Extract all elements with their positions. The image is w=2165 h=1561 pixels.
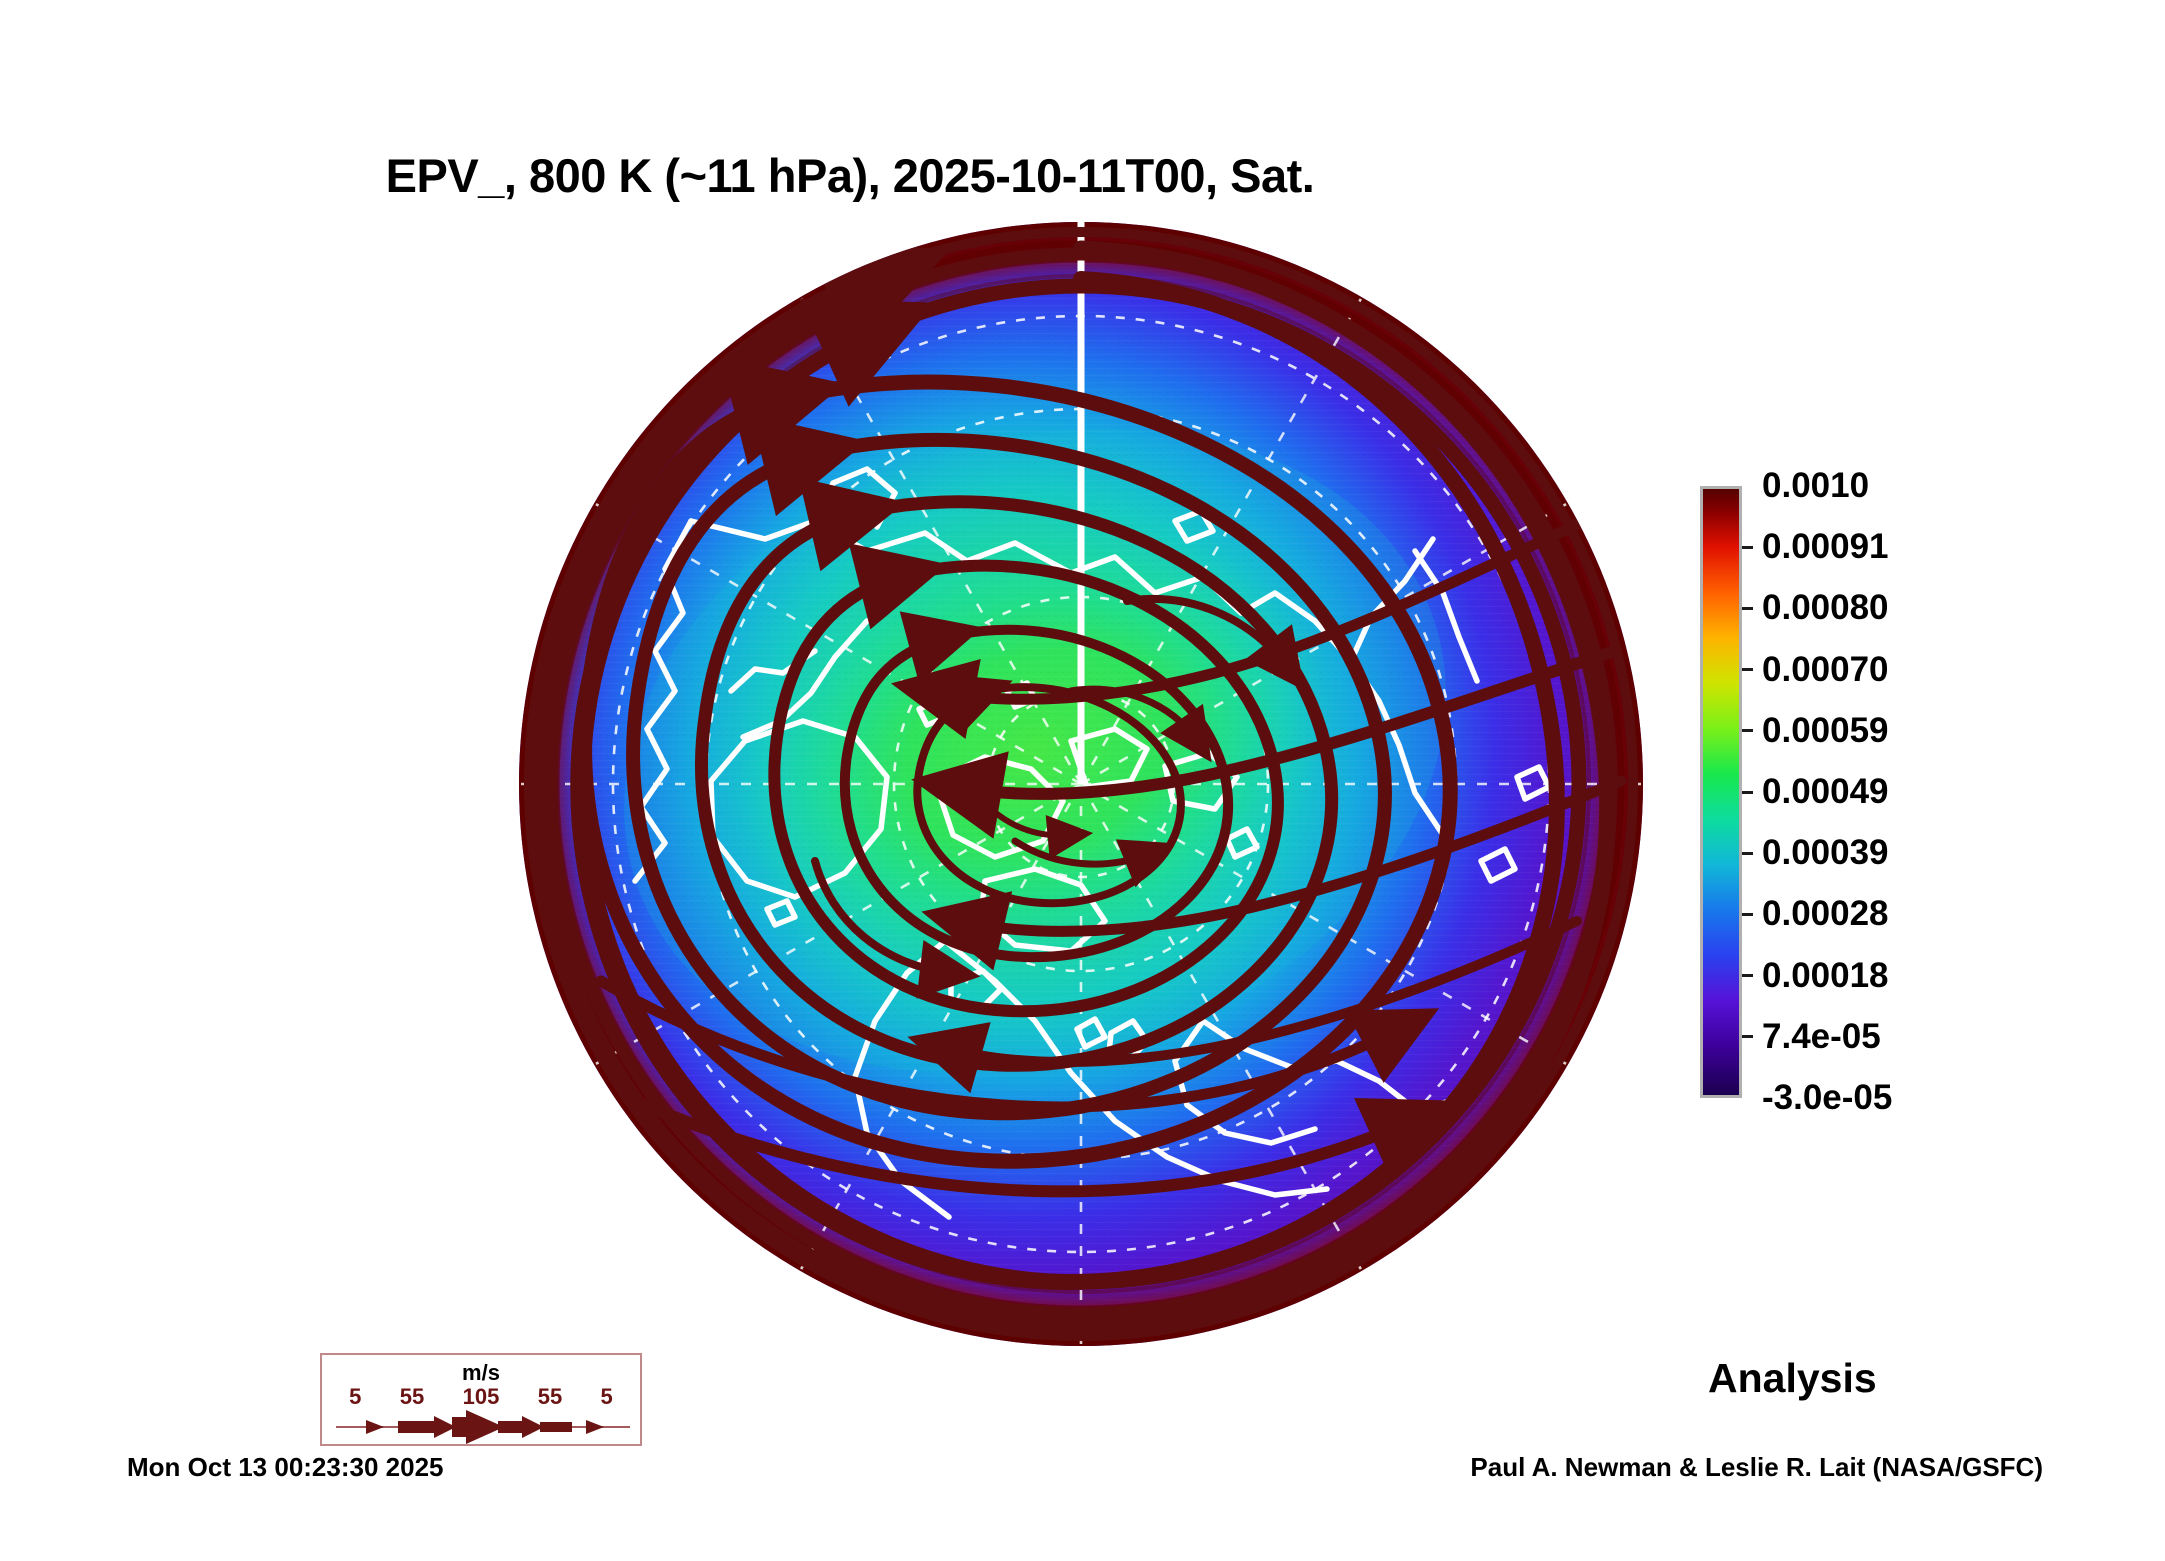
- colorbar-tick-label: 0.00018: [1762, 958, 1889, 993]
- wind-arrow-scale: [322, 1410, 644, 1444]
- colorbar-tick-label: 0.00070: [1762, 652, 1889, 687]
- colorbar-tick: [1742, 668, 1753, 671]
- page-title: EPV_, 800 K (~11 hPa), 2025-10-11T00, Sa…: [0, 148, 1700, 203]
- colorbar-tick: [1742, 974, 1753, 977]
- author-attribution: Paul A. Newman & Leslie R. Lait (NASA/GS…: [1470, 1452, 2043, 1483]
- wind-speed-legend: m/s 555105555: [320, 1353, 642, 1446]
- wind-tick-label: 5: [601, 1384, 613, 1410]
- polar-map-svg: [515, 221, 1647, 1347]
- colorbar-tick-label: 0.00059: [1762, 713, 1889, 748]
- colorbar-tick-label: 0.00028: [1762, 896, 1889, 931]
- colorbar-tick: [1742, 607, 1753, 610]
- colorbar-tick: [1742, 852, 1753, 855]
- colorbar-tick-label: 0.00080: [1762, 590, 1889, 625]
- colorbar-tick-label: -3.0e-05: [1762, 1080, 1892, 1115]
- colorbar-tick-label: 0.00049: [1762, 774, 1889, 809]
- colorbar-tick-label: 7.4e-05: [1762, 1019, 1881, 1054]
- wind-tick-label: 105: [463, 1384, 500, 1410]
- colorbar-tick: [1742, 729, 1753, 732]
- map-field: [515, 221, 1647, 1347]
- analysis-label: Analysis: [1708, 1355, 1877, 1402]
- wind-tick-label: 55: [400, 1384, 424, 1410]
- colorbar-tick-label: 0.0010: [1762, 468, 1869, 503]
- colorbar-tick: [1742, 791, 1753, 794]
- wind-tick-labels: 555105555: [322, 1384, 640, 1410]
- wind-unit-label: m/s: [322, 1360, 640, 1386]
- wind-tick-label: 5: [349, 1384, 361, 1410]
- colorbar-gradient: [1700, 486, 1742, 1098]
- generation-timestamp: Mon Oct 13 00:23:30 2025: [127, 1452, 444, 1483]
- colorbar-tick: [1742, 546, 1753, 549]
- colorbar-tick: [1742, 1035, 1753, 1038]
- colorbar-tick-label: 0.00091: [1762, 529, 1889, 564]
- wind-tick-label: 55: [538, 1384, 562, 1410]
- colorbar-tick: [1742, 913, 1753, 916]
- polar-map: [515, 221, 1647, 1347]
- colorbar-tick-label: 0.00039: [1762, 835, 1889, 870]
- epv-polar-map-figure: EPV_, 800 K (~11 hPa), 2025-10-11T00, Sa…: [0, 0, 2165, 1561]
